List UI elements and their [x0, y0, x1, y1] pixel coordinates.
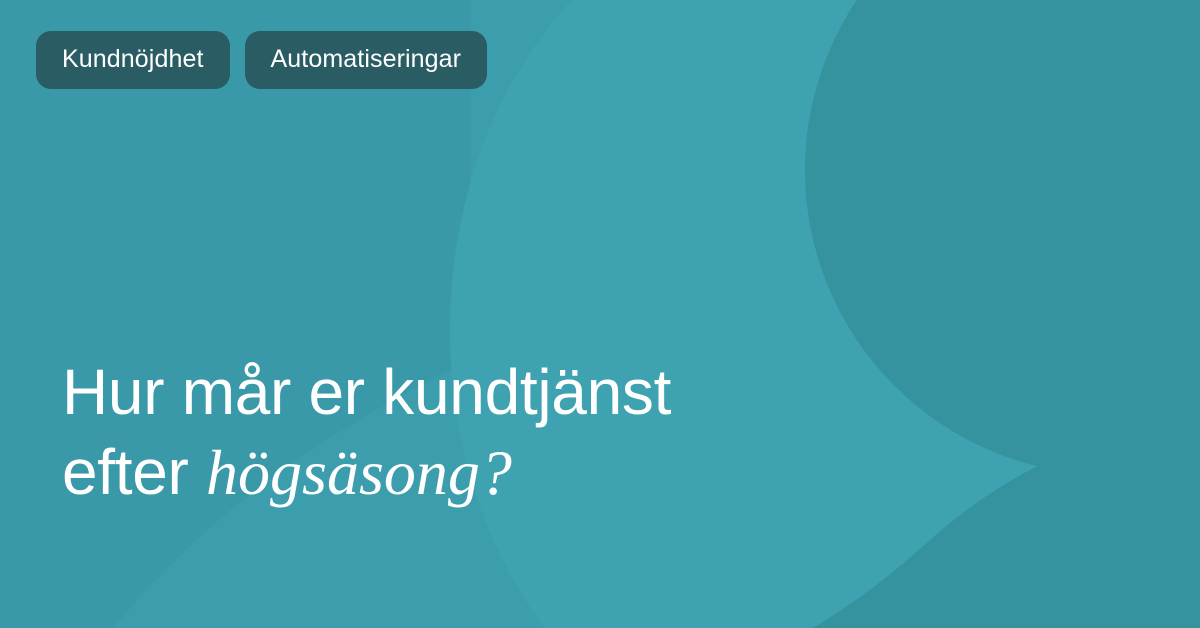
headline-emphasis-hogsasong: högsäsong? [206, 437, 512, 508]
headline: Hur mår er kundtjänst efter högsäsong? [62, 352, 922, 513]
headline-line-1-text: Hur mår er kundtjänst [62, 356, 671, 428]
tag-automatiseringar[interactable]: Automatiseringar [245, 31, 488, 89]
headline-line-2-sans-text: efter [62, 436, 206, 508]
tag-row: Kundnöjdhet Automatiseringar [36, 31, 487, 89]
background-decoration [0, 0, 1200, 628]
headline-line-1: Hur mår er kundtjänst [62, 352, 922, 432]
headline-line-2: efter högsäsong? [62, 432, 922, 513]
promo-card: Kundnöjdhet Automatiseringar Hur mår er … [0, 0, 1200, 628]
tag-kundnojdhet[interactable]: Kundnöjdhet [36, 31, 230, 89]
